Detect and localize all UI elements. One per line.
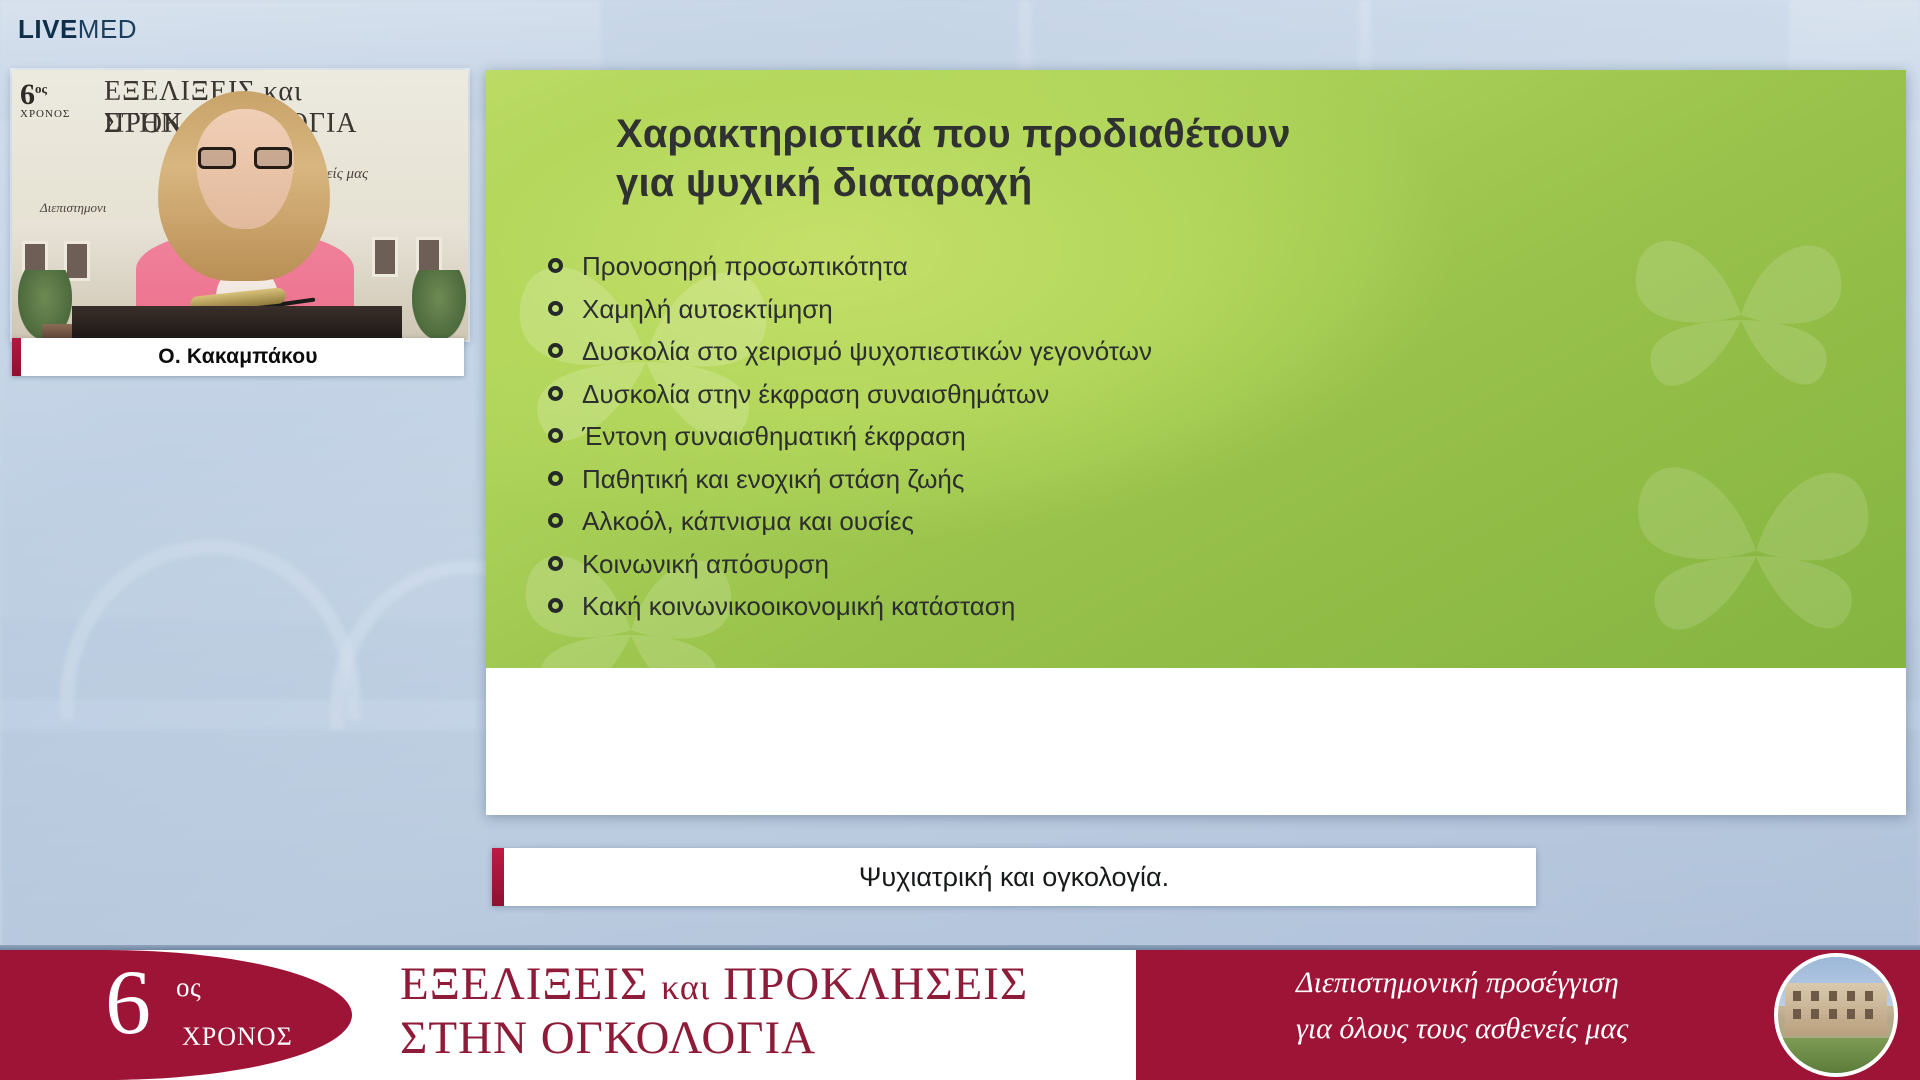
footer-edition-number: 6: [105, 956, 151, 1048]
footer-tagline-line1: Διεπιστημονική προσέγγιση: [1296, 966, 1619, 1000]
footer-title-line1: ΕΞΕΛΙΞΕΙΣ και ΠΡΟΚΛΗΣΕΙΣ: [400, 960, 1028, 1009]
footer-title-part-a: ΕΞΕΛΙΞΕΙΣ: [400, 958, 648, 1010]
logo-med-text: MED: [78, 14, 137, 44]
footer-tagline-panel: Διεπιστημονική προσέγγιση για όλους τους…: [1136, 950, 1920, 1080]
footer-venue-photo: [1774, 953, 1898, 1077]
footer-divider: [0, 945, 1920, 950]
speaker-name-label: Ο. Κακαμπάκου: [21, 345, 464, 369]
list-item: Έντονη συναισθηματική έκφραση: [548, 420, 1876, 453]
list-item: Κοινωνική απόσυρση: [548, 548, 1876, 581]
bullet-ring-icon: [548, 553, 582, 575]
bullet-ring-icon: [548, 425, 582, 447]
bullet-ring-icon: [548, 468, 582, 490]
list-item-label: Προνοσηρή προσωπικότητα: [582, 250, 908, 283]
list-item-label: Έντονη συναισθηματική έκφραση: [582, 420, 966, 453]
footer-edition-badge: 6 ος ΧΡΟΝΟΣ: [0, 950, 352, 1080]
list-item: Κακή κοινωνικοοικονομική κατάσταση: [548, 590, 1876, 623]
presentation-slide[interactable]: Χαρακτηριστικά που προδιαθέτουν για ψυχι…: [486, 70, 1906, 815]
slide-bullet-list: Προνοσηρή προσωπικότητα Χαμηλή αυτοεκτίμ…: [548, 250, 1876, 633]
list-item-label: Χαμηλή αυτοεκτίμηση: [582, 293, 833, 326]
caption-label: Ψυχιατρική και ογκολογία.: [504, 862, 1536, 893]
bullet-ring-icon: [548, 383, 582, 405]
venue-photo-window: [1793, 991, 1801, 1001]
bullet-ring-icon: [548, 595, 582, 617]
slide-title-line2: για ψυχική διαταραχή: [616, 159, 1846, 208]
backdrop-script-line2: Διεπιστημονι: [40, 200, 106, 216]
speaker-name-banner: Ο. Κακαμπάκου: [12, 338, 464, 376]
venue-photo-building: [1785, 983, 1887, 1036]
venue-photo-window: [1811, 991, 1819, 1001]
list-item-label: Δυσκολία στο χειρισμό ψυχοπιεστικών γεγο…: [582, 335, 1152, 368]
footer-title-line2: ΣΤΗΝ ΟΓΚΟΛΟΓΙΑ: [400, 1014, 816, 1063]
broadcast-stage: LIVEMED 6ος ΧΡΟΝΟΣ ΕΞΕΛΙΞΕΙΣ και ΠΡΟΚΛΗΣ…: [0, 0, 1920, 1080]
footer-edition-ordinal: ος: [176, 972, 201, 1003]
list-item-label: Δυσκολία στην έκφραση συναισθημάτων: [582, 378, 1049, 411]
bullet-ring-icon: [548, 510, 582, 532]
building-window: [372, 237, 398, 277]
footer-edition-word: ΧΡΟΝΟΣ: [182, 1022, 293, 1052]
venue-photo-window: [1865, 991, 1873, 1001]
building-tree: [412, 270, 466, 340]
list-item: Παθητική και ενοχική στάση ζωής: [548, 463, 1876, 496]
bullet-ring-icon: [548, 298, 582, 320]
venue-photo-window: [1829, 1009, 1837, 1019]
livemed-logo: LIVEMED: [18, 16, 137, 42]
podium: [72, 306, 402, 340]
venue-photo-window: [1847, 1009, 1855, 1019]
venue-photo-window: [1811, 1009, 1819, 1019]
speaker-glasses: [198, 147, 292, 169]
slide-canvas: Χαρακτηριστικά που προδιαθέτουν για ψυχι…: [486, 70, 1906, 668]
footer-title-part-b: και: [661, 967, 710, 1007]
slide-title-line1: Χαρακτηριστικά που προδιαθέτουν: [616, 110, 1846, 159]
venue-photo-window: [1829, 991, 1837, 1001]
list-item-label: Κοινωνική απόσυρση: [582, 548, 829, 581]
caption-accent-bar: [492, 848, 504, 906]
speaker-video-feed[interactable]: 6ος ΧΡΟΝΟΣ ΕΞΕΛΙΞΕΙΣ και ΠΡΟΚΛΗΣΕΙΣ ΣΤΗΝ…: [12, 70, 468, 340]
slide-title: Χαρακτηριστικά που προδιαθέτουν για ψυχι…: [616, 110, 1846, 208]
venue-photo-window: [1793, 1009, 1801, 1019]
event-footer: 6 ος ΧΡΟΝΟΣ ΕΞΕΛΙΞΕΙΣ και ΠΡΟΚΛΗΣΕΙΣ ΣΤΗ…: [0, 950, 1920, 1080]
list-item: Δυσκολία στην έκφραση συναισθημάτων: [548, 378, 1876, 411]
list-item-label: Αλκοόλ, κάπνισμα και ουσίες: [582, 505, 914, 538]
footer-tagline-line2: για όλους τους ασθενείς μας: [1296, 1012, 1628, 1046]
list-item: Χαμηλή αυτοεκτίμηση: [548, 293, 1876, 326]
bullet-ring-icon: [548, 255, 582, 277]
venue-photo-window: [1847, 991, 1855, 1001]
list-item-label: Παθητική και ενοχική στάση ζωής: [582, 463, 964, 496]
list-item: Δυσκολία στο χειρισμό ψυχοπιεστικών γεγο…: [548, 335, 1876, 368]
backdrop-ordinal: ος: [35, 81, 47, 96]
list-item: Αλκοόλ, κάπνισμα και ουσίες: [548, 505, 1876, 538]
venue-photo-grass: [1778, 1038, 1894, 1073]
name-accent-bar: [12, 338, 21, 376]
session-caption-bar: Ψυχιατρική και ογκολογία.: [492, 848, 1536, 906]
list-item: Προνοσηρή προσωπικότητα: [548, 250, 1876, 283]
footer-event-title: ΕΞΕΛΙΞΕΙΣ και ΠΡΟΚΛΗΣΕΙΣ ΣΤΗΝ ΟΓΚΟΛΟΓΙΑ: [366, 950, 1136, 1080]
venue-photo-window: [1865, 1009, 1873, 1019]
footer-title-part-c: ΠΡΟΚΛΗΣΕΙΣ: [723, 958, 1028, 1010]
list-item-label: Κακή κοινωνικοοικονομική κατάσταση: [582, 590, 1015, 623]
bullet-ring-icon: [548, 340, 582, 362]
logo-live-text: LIVE: [18, 14, 78, 44]
backdrop-number: 6ος: [20, 80, 47, 111]
